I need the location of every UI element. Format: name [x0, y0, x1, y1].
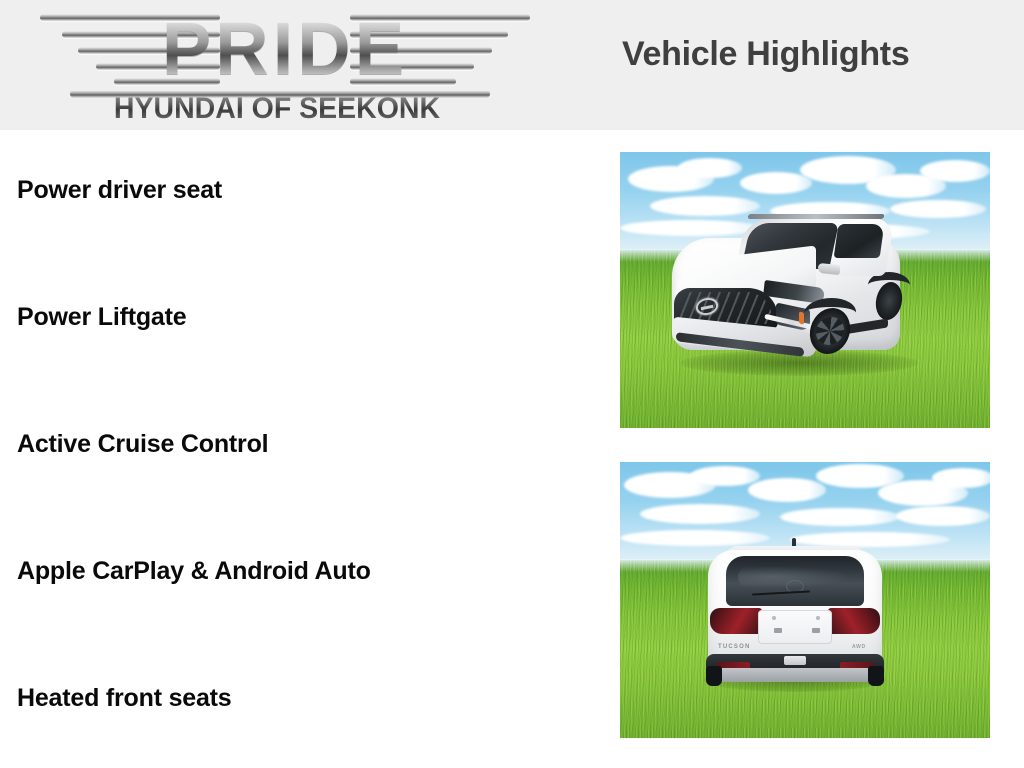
model-badge: TUCSON: [718, 644, 751, 650]
vehicle-highlights-list: Power driver seat Power Liftgate Active …: [17, 130, 607, 768]
rear-skid-plate: [714, 668, 876, 682]
list-item: Power Liftgate: [17, 302, 607, 332]
cloud-icon: [920, 160, 990, 182]
cloud-icon: [748, 478, 826, 502]
taillight-right: [828, 608, 880, 634]
cloud-icon: [896, 506, 990, 526]
list-item: Power driver seat: [17, 175, 607, 205]
page-title: Vehicle Highlights: [622, 35, 909, 74]
logo-wordmark-row: PRIDE: [18, 6, 536, 94]
trim-badge: AWD: [852, 644, 866, 650]
vehicle-front-illustration: [668, 202, 938, 387]
plate-mount-dot: [816, 616, 820, 620]
rear-tire-right: [868, 666, 884, 686]
taillight-left: [710, 608, 762, 634]
cloud-icon: [740, 172, 812, 194]
vehicle-rear-photo[interactable]: TUCSON AWD: [620, 462, 990, 738]
side-window-glass: [834, 224, 885, 258]
dealer-logo: PRIDE HYUNDAI OF SEEKONK: [18, 6, 536, 126]
cloud-icon: [932, 468, 990, 488]
list-item: Apple CarPlay & Android Auto: [17, 556, 607, 586]
logo-subtitle-text: HYUNDAI OF SEEKONK: [31, 92, 523, 126]
rear-tire-left: [706, 666, 722, 686]
vehicle-front-photo[interactable]: [620, 152, 990, 428]
plate-mount-slot: [812, 628, 820, 633]
license-plate-light: [784, 656, 806, 665]
roof-rail: [747, 214, 884, 219]
plate-mount-dot: [772, 616, 776, 620]
tailgate-plate-area: [758, 610, 832, 644]
plate-mount-slot: [774, 628, 782, 633]
logo-brand-text: PRIDE: [130, 9, 440, 89]
list-item: Active Cruise Control: [17, 429, 607, 459]
cloud-icon: [678, 158, 742, 178]
vehicle-rear-illustration: TUCSON AWD: [700, 510, 890, 700]
cloud-icon: [690, 466, 760, 486]
page-header: PRIDE HYUNDAI OF SEEKONK Vehicle Highlig…: [0, 0, 1024, 130]
list-item: Heated front seats: [17, 683, 607, 713]
